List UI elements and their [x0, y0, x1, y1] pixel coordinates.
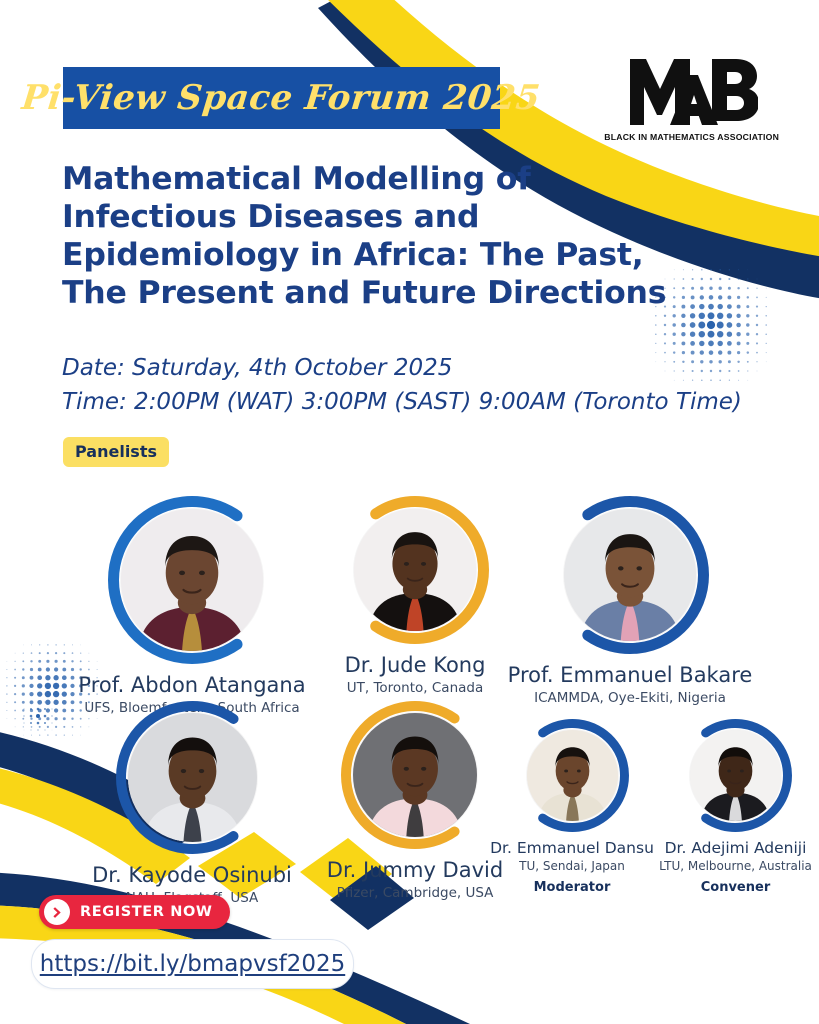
event-time: Time: 2:00PM (WAT) 3:00PM (SAST) 9:00AM … [62, 386, 782, 420]
panelist-card: Dr. Kayode OsinubiNAU, Flagstaff, USA [62, 700, 322, 906]
panelist-name: Dr. Adejimi Adeniji [648, 839, 819, 857]
panelists-row-1: Prof. Abdon AtanganaUFS, Bloemfontein, S… [0, 495, 819, 695]
event-schedule: Date: Saturday, 4th October 2025 Time: 2… [62, 352, 782, 419]
panelist-name: Dr. Jude Kong [310, 653, 520, 677]
registration-url-box[interactable]: https://bit.ly/bmapvsf2025 [31, 939, 354, 989]
bma-monogram-icon [626, 55, 758, 129]
panelists-row-2: Dr. Kayode OsinubiNAU, Flagstaff, USADr.… [0, 700, 819, 900]
avatar [121, 509, 263, 651]
panelist-name: Dr. Kayode Osinubi [62, 863, 322, 887]
title-line-4: The Present and Future Directions [62, 274, 692, 312]
panelist-card: Prof. Emmanuel BakareICAMMDA, Oye-Ekiti,… [500, 495, 760, 706]
panelist-card: Dr. Emmanuel DansuTU, Sendai, JapanModer… [482, 718, 662, 895]
avatar [690, 730, 781, 821]
register-now-label: REGISTER NOW [80, 904, 212, 920]
title-line-2: Infectious Diseases and [62, 198, 692, 236]
avatar [564, 509, 696, 641]
panelist-affiliation: LTU, Melbourne, Australia [648, 859, 819, 873]
avatar [128, 713, 257, 842]
register-now-button[interactable]: REGISTER NOW [39, 895, 230, 929]
panelist-card: Dr. Jude KongUT, Toronto, Canada [310, 495, 520, 696]
forum-title-ribbon: Pi-View Space Forum 2025 [63, 67, 500, 129]
avatar [353, 713, 477, 837]
panelist-role: Convener [648, 880, 819, 895]
page-title: Mathematical Modelling of Infectious Dis… [62, 160, 692, 312]
bma-logo: BLACK IN MATHEMATICS ASSOCIATION [617, 55, 767, 155]
panelist-name: Prof. Emmanuel Bakare [500, 663, 760, 687]
bma-logo-caption: BLACK IN MATHEMATICS ASSOCIATION [605, 132, 780, 142]
registration-url[interactable]: https://bit.ly/bmapvsf2025 [40, 951, 345, 977]
panelist-name: Prof. Abdon Atangana [62, 673, 322, 697]
chevron-right-icon [44, 899, 70, 925]
event-poster: Pi-View Space Forum 2025 BLACK IN MATHEM… [0, 0, 819, 1024]
avatar [527, 730, 618, 821]
avatar [354, 509, 476, 631]
panelist-affiliation: TU, Sendai, Japan [482, 859, 662, 873]
event-date: Date: Saturday, 4th October 2025 [62, 352, 782, 386]
title-line-1: Mathematical Modelling of [62, 160, 692, 198]
panelists-badge: Panelists [63, 437, 169, 467]
panelist-card: Dr. Adejimi AdenijiLTU, Melbourne, Austr… [648, 718, 819, 895]
forum-title: Pi-View Space Forum 2025 [20, 78, 542, 118]
panelist-name: Dr. Emmanuel Dansu [482, 839, 662, 857]
panelist-affiliation: UT, Toronto, Canada [310, 680, 520, 696]
panelist-role: Moderator [482, 880, 662, 895]
title-line-3: Epidemiology in Africa: The Past, [62, 236, 692, 274]
panelist-card: Prof. Abdon AtanganaUFS, Bloemfontein, S… [62, 495, 322, 716]
